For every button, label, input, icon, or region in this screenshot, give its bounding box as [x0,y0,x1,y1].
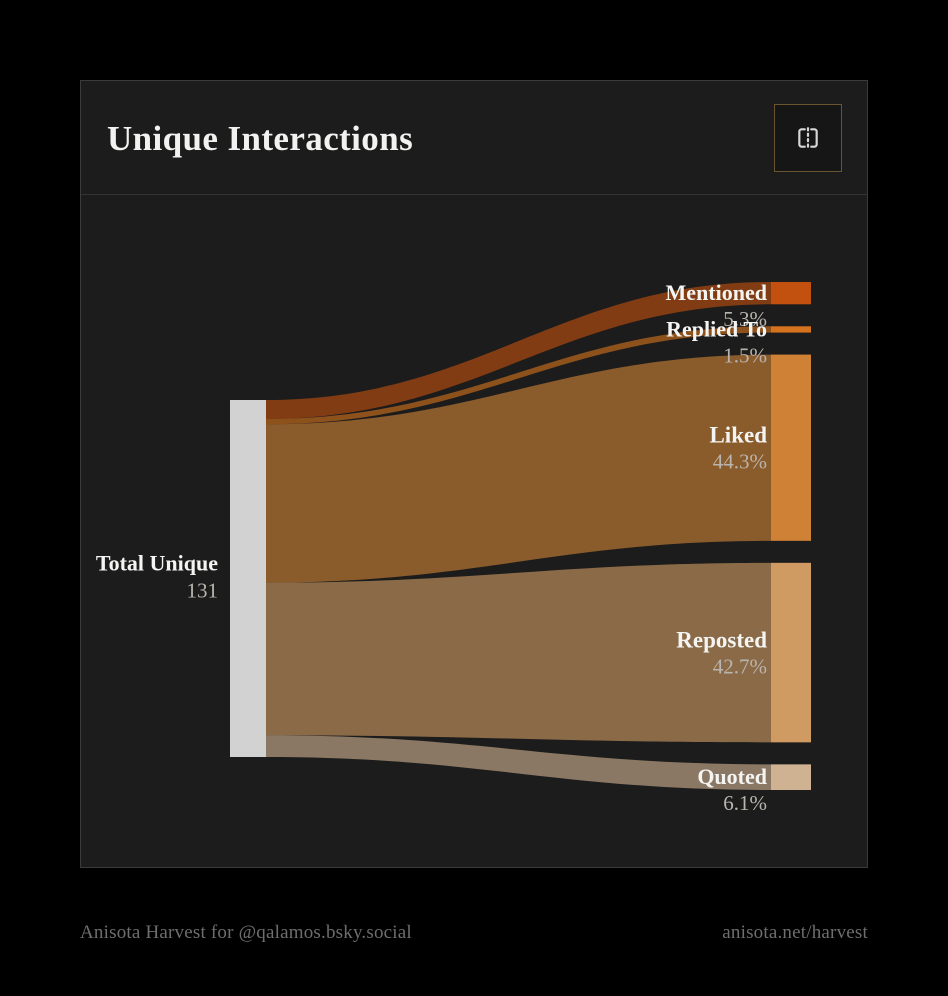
sankey-label-mentioned: Mentioned [666,280,767,305]
sankey-node-liked[interactable] [771,355,811,541]
sankey-label-liked: Liked [709,423,767,448]
sankey-label-reposted: Reposted [676,628,767,653]
sankey-link-quoted [266,735,771,790]
sankey-value-quoted: 6.1% [723,791,767,815]
sankey-link-liked [266,355,771,583]
sankey-node-replied-to[interactable] [771,326,811,332]
sankey-value-total-unique: 131 [187,579,219,603]
screenshot-page: Unique Interactions Total Unique131Menti… [0,0,948,996]
split-view-button[interactable] [774,104,842,172]
sankey-node-total-unique[interactable] [230,400,266,757]
footer: Anisota Harvest for @qalamos.bsky.social… [80,908,868,958]
sankey-label-quoted: Quoted [697,764,767,789]
between-horizontal-brackets-icon [795,125,821,151]
sankey-value-replied-to: 1.5% [723,343,767,367]
sankey-value-reposted: 42.7% [713,655,767,679]
card-header: Unique Interactions [81,81,867,195]
sankey-label-replied-to: Replied To [666,316,767,341]
page-title: Unique Interactions [107,121,413,156]
sankey-label-total-unique: Total Unique [96,551,218,576]
sankey-value-liked: 44.3% [713,450,767,474]
sankey-node-quoted[interactable] [771,764,811,790]
sankey-node-reposted[interactable] [771,563,811,743]
sankey-diagram: Total Unique131Mentioned5.3%Replied To1.… [81,195,867,867]
footer-url: anisota.net/harvest [722,922,868,944]
sankey-node-mentioned[interactable] [771,282,811,304]
sankey-chart-area: Total Unique131Mentioned5.3%Replied To1.… [81,195,867,867]
footer-attribution: Anisota Harvest for @qalamos.bsky.social [80,922,412,944]
unique-interactions-card: Unique Interactions Total Unique131Menti… [80,80,868,868]
